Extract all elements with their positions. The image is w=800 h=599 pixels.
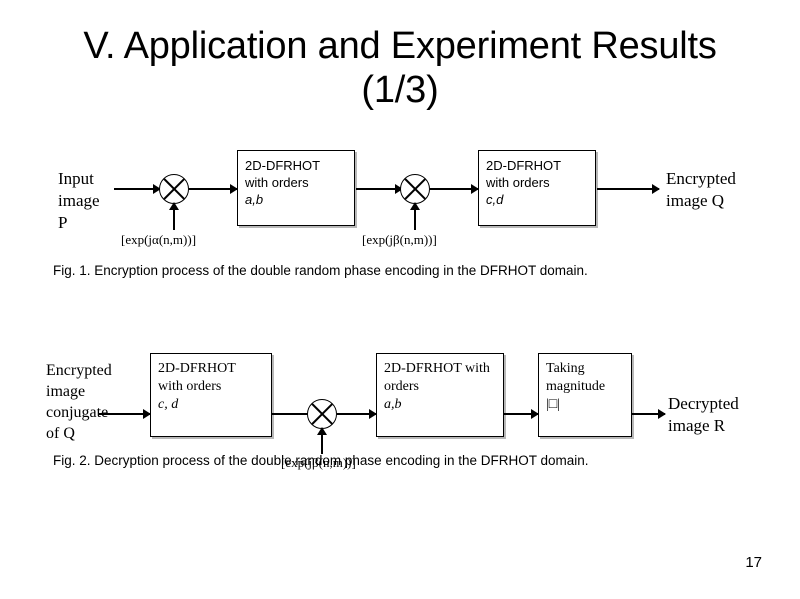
- figure1-input-line1: Input: [58, 168, 100, 190]
- figure2-box3-line1: Taking: [546, 360, 624, 378]
- figure2-box2-orders: a,b: [384, 396, 496, 414]
- figure1-arrow-mult1-to-box1: [189, 188, 237, 190]
- figure1-box2-line2: with orders: [486, 174, 588, 191]
- figure1-output-label: Encrypted image Q: [666, 168, 736, 212]
- figure1-arrow-box2-to-output: [597, 188, 659, 190]
- figure2-arrow-box3-to-output: [632, 413, 665, 415]
- figure1-box2-orders: c,d: [486, 191, 588, 208]
- page-title: V. Application and Experiment Results (1…: [50, 24, 750, 112]
- figure1-multiplier-2-icon: [400, 174, 430, 204]
- figure2-box3-line2: magnitude: [546, 378, 624, 396]
- page-number: 17: [745, 554, 762, 571]
- figure2-multiplier-icon: [307, 399, 337, 429]
- figure1-arrow-input-to-mult1: [114, 188, 160, 190]
- figure1-box1-line1: 2D-DFRHOT: [245, 157, 347, 174]
- figure1-box1-line2: with orders: [245, 174, 347, 191]
- figure1-phase-key-2: [exp(jβ(n,m))]: [362, 232, 437, 247]
- figure1-dfrhot-box-1: 2D-DFRHOT with orders a,b: [237, 150, 355, 226]
- figure2-input-line2: image: [46, 381, 112, 402]
- figure2-box3-magnitude-glyph: |□|: [546, 396, 624, 414]
- figure1-arrow-phase2-to-mult2: [414, 204, 416, 230]
- figure2-line-box1-to-mult: [272, 413, 309, 415]
- figure2-output-line2: image R: [668, 415, 739, 437]
- figure2-arrow-input-to-box1: [98, 413, 150, 415]
- figure1-arrow-phase1-to-mult1: [173, 204, 175, 230]
- figure1-arrow-box1-to-mult2: [356, 188, 402, 190]
- figure1-dfrhot-box-2: 2D-DFRHOT with orders c,d: [478, 150, 596, 226]
- figure2-input-line1: Encrypted: [46, 360, 112, 381]
- figure2-output-line1: Decrypted: [668, 393, 739, 415]
- figure1-input-line2: image: [58, 190, 100, 212]
- slide: V. Application and Experiment Results (1…: [0, 0, 800, 599]
- figure2-output-label: Decrypted image R: [668, 393, 739, 437]
- figure1-input-label: Input image P: [58, 168, 100, 234]
- figure1-box2-line1: 2D-DFRHOT: [486, 157, 588, 174]
- figure2-box1-orders: c, d: [158, 396, 264, 414]
- figure2-arrow-box2-to-box3: [504, 413, 538, 415]
- figure1-multiplier-1-icon: [159, 174, 189, 204]
- figure2-arrow-phase-to-mult: [321, 429, 323, 454]
- figure1-phase-key-1: [exp(jα(n,m))]: [121, 232, 196, 247]
- figure2-taking-magnitude-box: Taking magnitude |□|: [538, 353, 632, 437]
- figure1-input-line3: P: [58, 212, 100, 234]
- figure1-output-line1: Encrypted: [666, 168, 736, 190]
- figure1-arrow-mult2-to-box2: [430, 188, 478, 190]
- figure2-box2-line2: orders: [384, 378, 496, 396]
- figure2-arrow-mult-to-box2: [337, 413, 376, 415]
- figure1-output-line2: image Q: [666, 190, 736, 212]
- figure2-input-line4: of Q: [46, 423, 112, 444]
- figure2-caption: Fig. 2. Decryption process of the double…: [53, 452, 589, 470]
- figure1-caption: Fig. 1. Encryption process of the double…: [53, 262, 588, 280]
- figure1-box1-orders: a,b: [245, 191, 347, 208]
- figure2-box1-line2: with orders: [158, 378, 264, 396]
- figure2-dfrhot-box-2: 2D-DFRHOT with orders a,b: [376, 353, 504, 437]
- figure2-input-label: Encrypted image conjugate of Q: [46, 360, 112, 444]
- figure2-box2-line1: 2D-DFRHOT with: [384, 360, 496, 378]
- figure2-dfrhot-box-1: 2D-DFRHOT with orders c, d: [150, 353, 272, 437]
- figure2-box1-line1: 2D-DFRHOT: [158, 360, 264, 378]
